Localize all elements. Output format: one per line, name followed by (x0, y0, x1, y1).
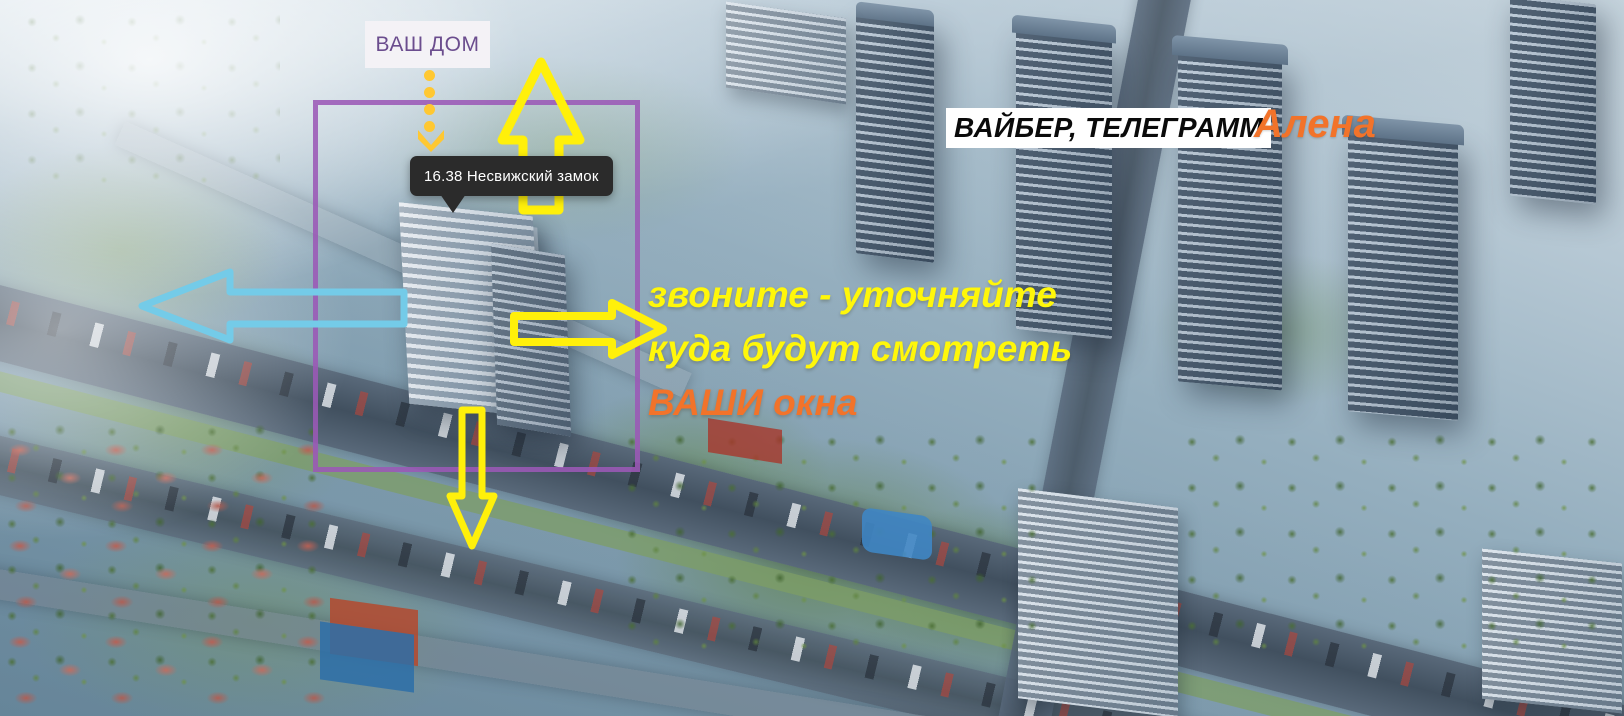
arrow-left-icon (138, 262, 408, 344)
cta-line-2: куда будут смотреть (648, 322, 1168, 376)
arrow-down-icon (444, 404, 500, 552)
annotated-aerial-map: ВАШ ДОМ 16.38 Несвижский замок ВАЙБЕР, Т… (0, 0, 1624, 716)
connector-dot (424, 104, 435, 115)
connector-dot (424, 87, 435, 98)
cta-line-1: звоните - уточняйте (648, 268, 1168, 322)
cta-line-3: ВАШИ окна (648, 376, 1168, 430)
poi-tooltip[interactable]: 16.38 Несвижский замок (410, 156, 613, 196)
arrow-right-icon (508, 298, 668, 360)
poi-tooltip-pointer (440, 194, 466, 213)
contact-person-name: Алена (1254, 104, 1376, 144)
chevron-down-icon (416, 128, 446, 152)
connector-dot (424, 70, 435, 81)
call-to-action-block: звоните - уточняйте куда будут смотреть … (648, 268, 1168, 430)
messenger-channels-badge: ВАЙБЕР, ТЕЛЕГРАММ (946, 108, 1271, 148)
messenger-channels-label: ВАЙБЕР, ТЕЛЕГРАММ (954, 112, 1263, 144)
your-home-label: ВАШ ДОМ (365, 21, 490, 68)
your-home-label-text: ВАШ ДОМ (376, 33, 480, 57)
poi-tooltip-text: 16.38 Несвижский замок (424, 168, 599, 185)
